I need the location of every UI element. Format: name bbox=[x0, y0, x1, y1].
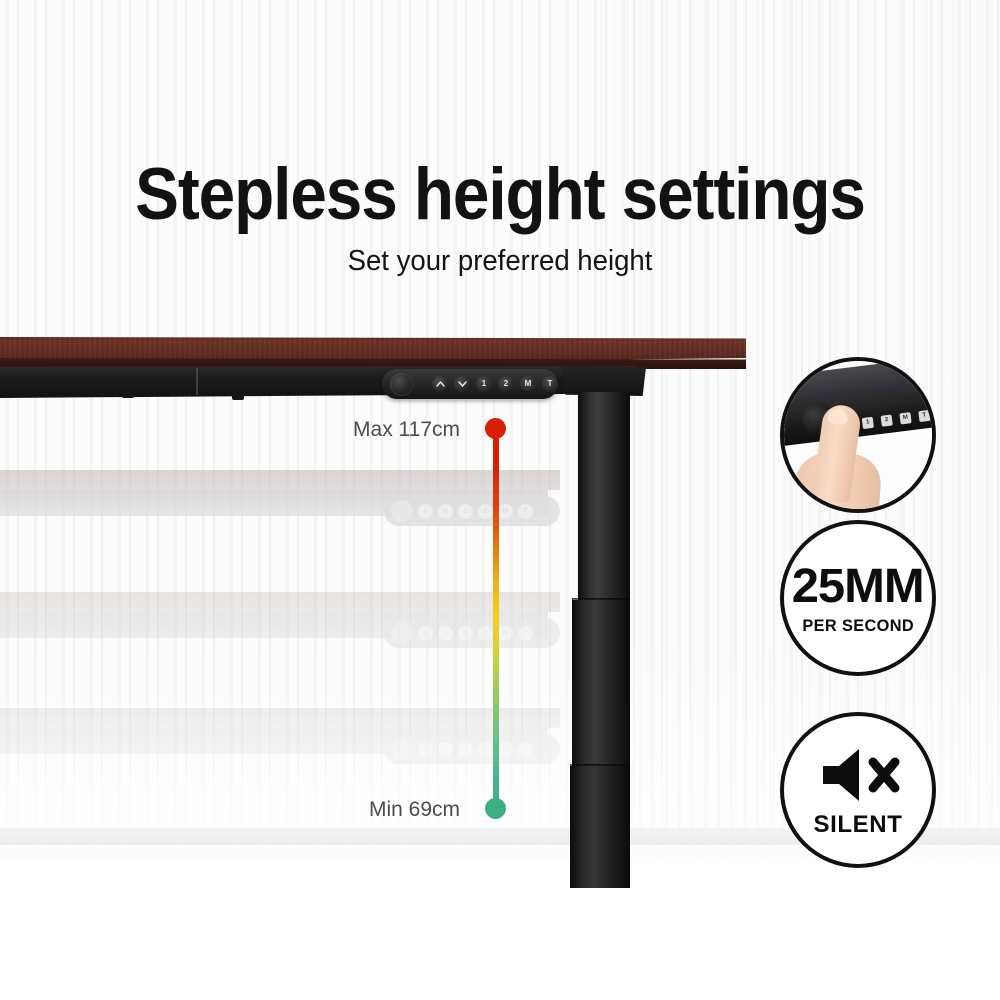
up-arrow-button[interactable] bbox=[432, 376, 448, 392]
desk-leg-segment-middle bbox=[572, 600, 630, 770]
badge-silent-operation: SILENT bbox=[780, 712, 936, 868]
height-range-gradient-bar bbox=[493, 428, 499, 808]
product-feature-image: ∧∨ 12 MT ∧∨ 12 MT ∧∨ 12 MT bbox=[0, 0, 1000, 1000]
min-height-label: Min 69cm bbox=[190, 798, 460, 822]
lift-speed-value: 25MM bbox=[792, 563, 924, 611]
photo-inset: 12 MT bbox=[784, 361, 932, 509]
down-arrow-button[interactable] bbox=[454, 376, 470, 392]
timer-button[interactable]: T bbox=[542, 376, 558, 392]
memory-button[interactable]: M bbox=[520, 376, 536, 392]
frame-bracket-right bbox=[232, 394, 244, 400]
page-subtitle: Set your preferred height bbox=[25, 246, 975, 278]
frame-seam bbox=[196, 368, 198, 395]
min-height-marker-dot bbox=[485, 798, 506, 819]
muted-speaker-icon bbox=[815, 746, 901, 809]
preset-2-button[interactable]: 2 bbox=[498, 376, 514, 392]
silent-label: SILENT bbox=[814, 813, 903, 837]
desk-leg-segment-upper bbox=[578, 392, 630, 604]
max-height-marker-dot bbox=[485, 418, 506, 439]
ghost-knob bbox=[391, 738, 413, 760]
ghost-knob bbox=[391, 500, 413, 522]
desk-control-panel[interactable]: 1 2 M T bbox=[382, 369, 558, 399]
frame-bracket-left bbox=[122, 392, 134, 398]
desk-leg-segment-lower bbox=[570, 766, 630, 888]
background-floor-fade bbox=[0, 845, 1000, 1000]
page-title: Stepless height settings bbox=[50, 158, 950, 231]
badge-lift-speed: 25MM PER SECOND bbox=[780, 520, 936, 676]
preset-1-button[interactable]: 1 bbox=[476, 376, 492, 392]
control-panel-display-knob[interactable] bbox=[390, 373, 413, 396]
max-height-label: Max 117cm bbox=[190, 418, 460, 442]
ghost-knob bbox=[391, 622, 413, 644]
lift-speed-caption: PER SECOND bbox=[802, 617, 914, 634]
badge-control-panel-photo: 12 MT bbox=[780, 357, 936, 513]
